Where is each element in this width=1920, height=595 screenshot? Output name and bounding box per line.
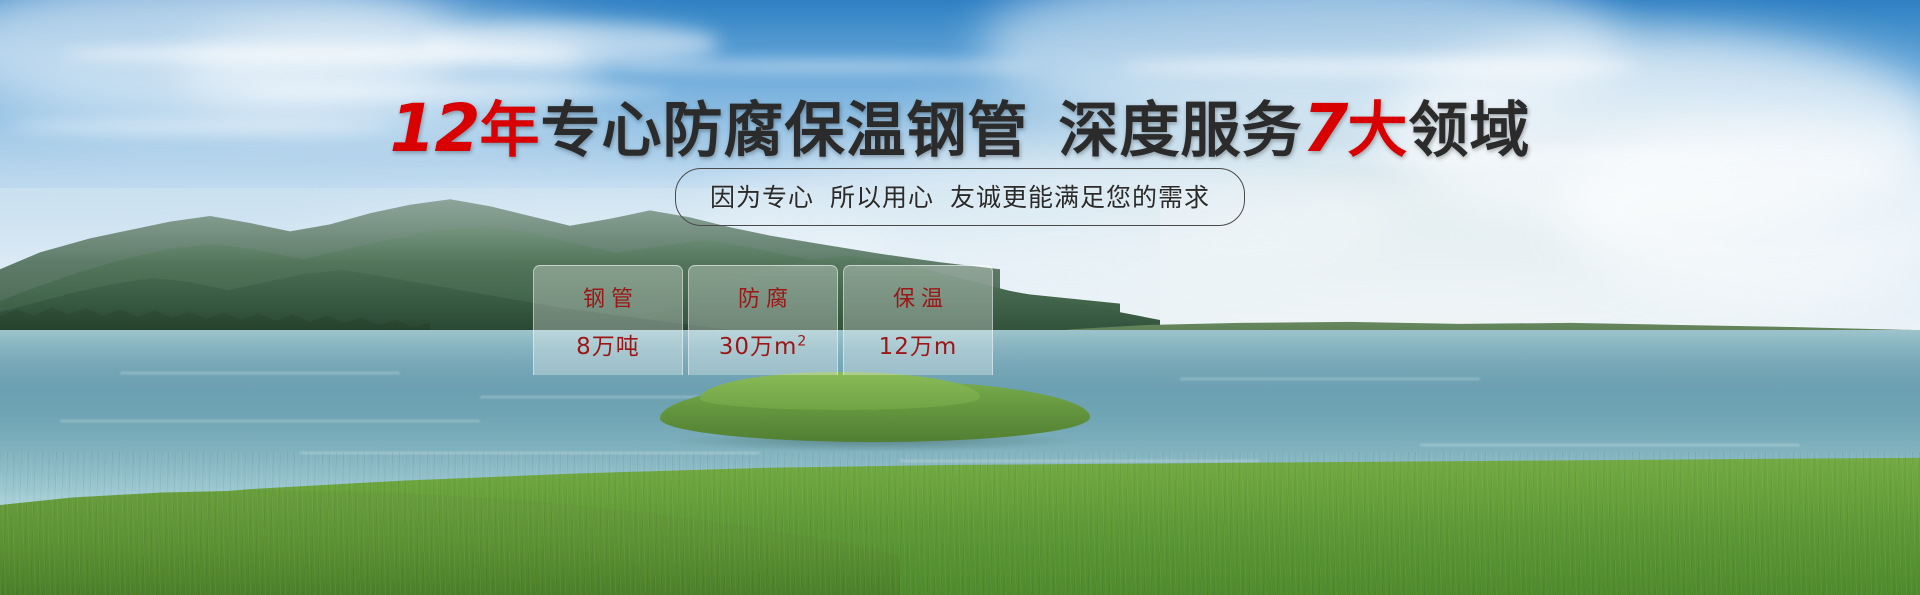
subtitle-part2: 所以用心	[830, 183, 934, 212]
stat-card-value-sup: 2	[797, 333, 807, 349]
headline-fields-number: 7	[1302, 90, 1347, 167]
stat-card: 防腐 30万m2	[688, 265, 838, 375]
stat-card-label: 钢管	[577, 281, 639, 313]
subtitle-part1: 因为专心	[710, 183, 814, 212]
stat-card: 钢管 8万吨	[533, 265, 683, 375]
stat-card-value-text: 12万m	[879, 334, 958, 360]
subtitle-part3: 友诚更能满足您的需求	[950, 183, 1210, 212]
stat-card-value: 30万m2	[719, 327, 808, 361]
stat-cards: 钢管 8万吨 防腐 30万m2 保温 12万m	[533, 265, 993, 375]
headline-main: 专心防腐保温钢管	[540, 96, 1028, 166]
page-title: 12年专心防腐保温钢管深度服务7大领域	[0, 82, 1920, 169]
headline-fields-da: 大	[1347, 96, 1408, 166]
hero-banner: 12年专心防腐保温钢管深度服务7大领域 因为专心所以用心友诚更能满足您的需求 钢…	[0, 0, 1920, 595]
stat-card-value: 8万吨	[576, 327, 640, 361]
banner-content: 12年专心防腐保温钢管深度服务7大领域 因为专心所以用心友诚更能满足您的需求 钢…	[0, 0, 1920, 595]
subtitle-container: 因为专心所以用心友诚更能满足您的需求	[0, 168, 1920, 226]
stat-card-value-text: 30万m	[719, 334, 798, 360]
subtitle-pill: 因为专心所以用心友诚更能满足您的需求	[675, 168, 1245, 226]
stat-card: 保温 12万m	[843, 265, 993, 375]
headline-fields-suffix: 领域	[1408, 96, 1530, 166]
stat-card-label: 保温	[887, 281, 949, 313]
headline-service: 深度服务	[1058, 96, 1302, 166]
stat-card-value: 12万m	[879, 327, 958, 361]
headline-years-unit: 年	[479, 96, 540, 166]
stat-card-label: 防腐	[732, 281, 794, 313]
stat-card-value-text: 8万吨	[576, 334, 640, 360]
headline-years-number: 12	[390, 90, 480, 167]
